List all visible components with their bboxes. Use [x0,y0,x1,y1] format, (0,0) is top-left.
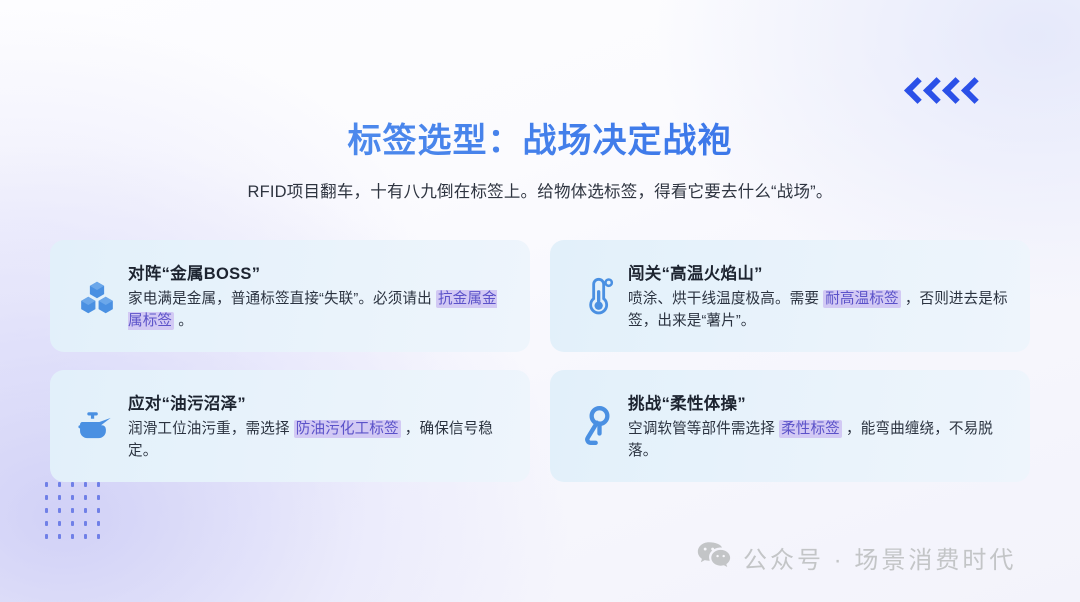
footer-watermark: 公众号 · 场景消费时代 [697,540,1016,575]
page-subtitle: RFID项目翻车，十有八九倒在标签上。给物体选标签，得看它要去什么“战场”。 [0,178,1080,202]
chevron-decoration [905,76,979,106]
card-oil-contamination[interactable]: 应对“油污沼泽” 润滑工位油污重，需选择 防油污化工标签 ，确保信号稳定。 [50,370,530,482]
highlight-tag: 防油污化工标签 [294,420,401,438]
card-title: 挑战“柔性体操” [628,390,1008,414]
highlight-tag: 耐高温标签 [823,290,900,308]
thermometer-icon [566,276,628,316]
card-description: 喷涂、烘干线温度极高。需要 耐高温标签 ，否则进去是标签，出来是“薯片”。 [628,288,1008,332]
card-body: 闯关“高温火焰山” 喷涂、烘干线温度极高。需要 耐高温标签 ，否则进去是标签，出… [628,260,1012,332]
card-grid: 对阵“金属BOSS” 家电满是金属，普通标签直接“失联”。必须请出 抗金属金属标… [50,240,1030,482]
flexible-ribbon-icon [566,406,628,446]
desc-text-before: 润滑工位油污重，需选择 [128,421,294,437]
oil-can-icon [66,409,128,443]
card-flexible-label[interactable]: 挑战“柔性体操” 空调软管等部件需选择 柔性标签 ，能弯曲缠绕，不易脱落。 [550,370,1030,482]
page-title: 标签选型：战场决定战袍 [0,113,1080,162]
chevron-left-icon [943,76,960,106]
dot-grid-decoration [40,478,105,543]
card-metal-boss[interactable]: 对阵“金属BOSS” 家电满是金属，普通标签直接“失联”。必须请出 抗金属金属标… [50,240,530,352]
card-description: 家电满是金属，普通标签直接“失联”。必须请出 抗金属金属标签 。 [128,288,508,332]
desc-text-before: 家电满是金属，普通标签直接“失联”。必须请出 [128,291,436,307]
footer-text: 公众号 · 场景消费时代 [743,540,1016,575]
chevron-left-icon [924,76,941,106]
chevron-left-icon [905,76,922,106]
card-title: 对阵“金属BOSS” [128,260,508,284]
cubes-icon [66,277,128,315]
chevron-left-icon [962,76,979,106]
slide-root: 标签选型：战场决定战袍 RFID项目翻车，十有八九倒在标签上。给物体选标签，得看… [0,0,1080,602]
desc-text-before: 喷涂、烘干线温度极高。需要 [628,291,823,307]
card-body: 挑战“柔性体操” 空调软管等部件需选择 柔性标签 ，能弯曲缠绕，不易脱落。 [628,390,1012,462]
desc-text-after: 。 [174,313,193,329]
card-description: 空调软管等部件需选择 柔性标签 ，能弯曲缠绕，不易脱落。 [628,418,1008,462]
card-description: 润滑工位油污重，需选择 防油污化工标签 ，确保信号稳定。 [128,418,508,462]
wechat-icon [697,540,731,575]
card-body: 对阵“金属BOSS” 家电满是金属，普通标签直接“失联”。必须请出 抗金属金属标… [128,260,512,332]
card-body: 应对“油污沼泽” 润滑工位油污重，需选择 防油污化工标签 ，确保信号稳定。 [128,390,512,462]
highlight-tag: 柔性标签 [779,420,842,438]
card-title: 闯关“高温火焰山” [628,260,1008,284]
desc-text-before: 空调软管等部件需选择 [628,421,779,437]
card-high-temperature[interactable]: 闯关“高温火焰山” 喷涂、烘干线温度极高。需要 耐高温标签 ，否则进去是标签，出… [550,240,1030,352]
card-title: 应对“油污沼泽” [128,390,508,414]
